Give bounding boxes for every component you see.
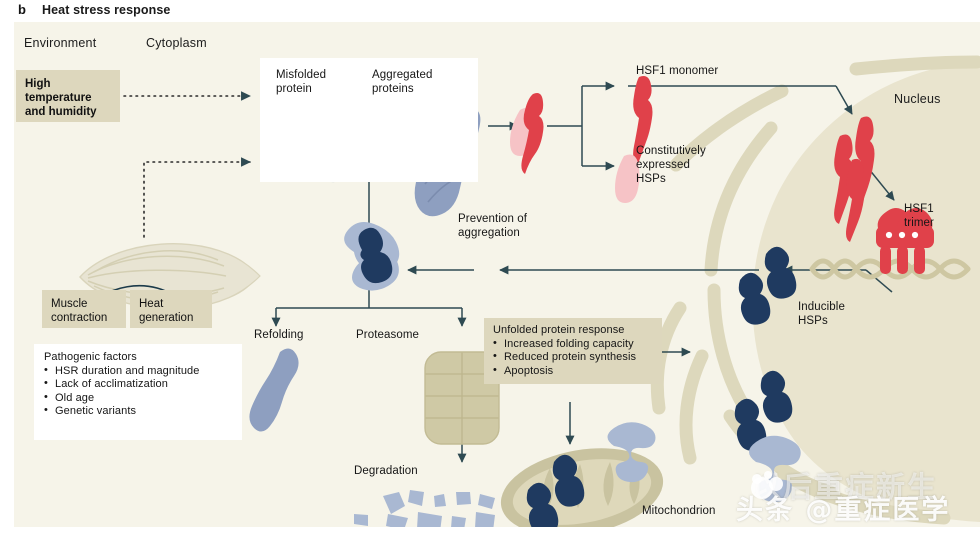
panel-letter: b: [18, 2, 26, 17]
zone-label-mitochondrion: Mitochondrion: [642, 504, 716, 518]
zone-label-cytoplasm: Cytoplasm: [146, 36, 207, 50]
degradation-label: Degradation: [354, 464, 418, 478]
zone-label-environment: Environment: [24, 36, 96, 50]
degradation-fragments: [354, 490, 495, 527]
pathogenic-item: Lack of acclimatization: [44, 378, 232, 392]
pathogenic-item: HSR duration and magnitude: [44, 365, 232, 379]
watermark-logo-icon: [742, 466, 802, 506]
misfolded-aggregated-box: Misfolded protein Aggregated proteins: [260, 58, 478, 182]
chaperone-complex-shape: [344, 222, 399, 291]
upr-list: Increased folding capacity Reduced prote…: [493, 338, 653, 379]
refolded-protein-shape: [249, 348, 298, 431]
page-title: Heat stress response: [42, 3, 170, 17]
pathogenic-item: Genetic variants: [44, 405, 232, 419]
zone-label-nucleus: Nucleus: [894, 92, 941, 106]
inducible-hsps-label: Inducible HSPs: [798, 300, 862, 328]
pathogenic-factors-list: HSR duration and magnitude Lack of accli…: [44, 365, 232, 419]
diagram-panel: Environment Cytoplasm Nucleus Mitochondr…: [14, 22, 980, 527]
hsf1-monomer-label: HSF1 monomer: [636, 64, 718, 78]
prevention-of-aggregation-label: Prevention of aggregation: [458, 212, 562, 240]
arrow-monomer-into-nucleus: [836, 86, 852, 114]
hsf1-activation-shape: [510, 93, 544, 174]
upr-item: Reduced protein synthesis: [493, 351, 653, 365]
pathogenic-factors-box: Pathogenic factors HSR duration and magn…: [34, 344, 242, 440]
stimulus-dotted-arrows: [124, 96, 250, 237]
upr-title: Unfolded protein response: [493, 324, 653, 338]
upr-box: Unfolded protein response Increased fold…: [484, 318, 662, 384]
hsf1-trimer-label: HSF1 trimer: [904, 202, 952, 230]
upr-item: Apoptosis: [493, 365, 653, 379]
proteasome-label: Proteasome: [356, 328, 419, 342]
constitutive-hsps-label: Constitutively expressed HSPs: [636, 144, 722, 186]
aggregated-proteins-label: Aggregated proteins: [372, 68, 460, 96]
heat-generation-box: Heat generation: [130, 290, 212, 328]
misfolded-protein-label: Misfolded protein: [276, 68, 346, 96]
figure-root: b Heat stress response: [0, 0, 980, 542]
refolding-label: Refolding: [254, 328, 304, 342]
upr-item: Increased folding capacity: [493, 338, 653, 352]
pathogenic-factors-title: Pathogenic factors: [44, 351, 232, 365]
diagram-canvas: [14, 22, 980, 527]
stimulus-box: High temperature and humidity: [16, 70, 120, 122]
muscle-contraction-box: Muscle contraction: [42, 290, 126, 328]
pathogenic-item: Old age: [44, 392, 232, 406]
